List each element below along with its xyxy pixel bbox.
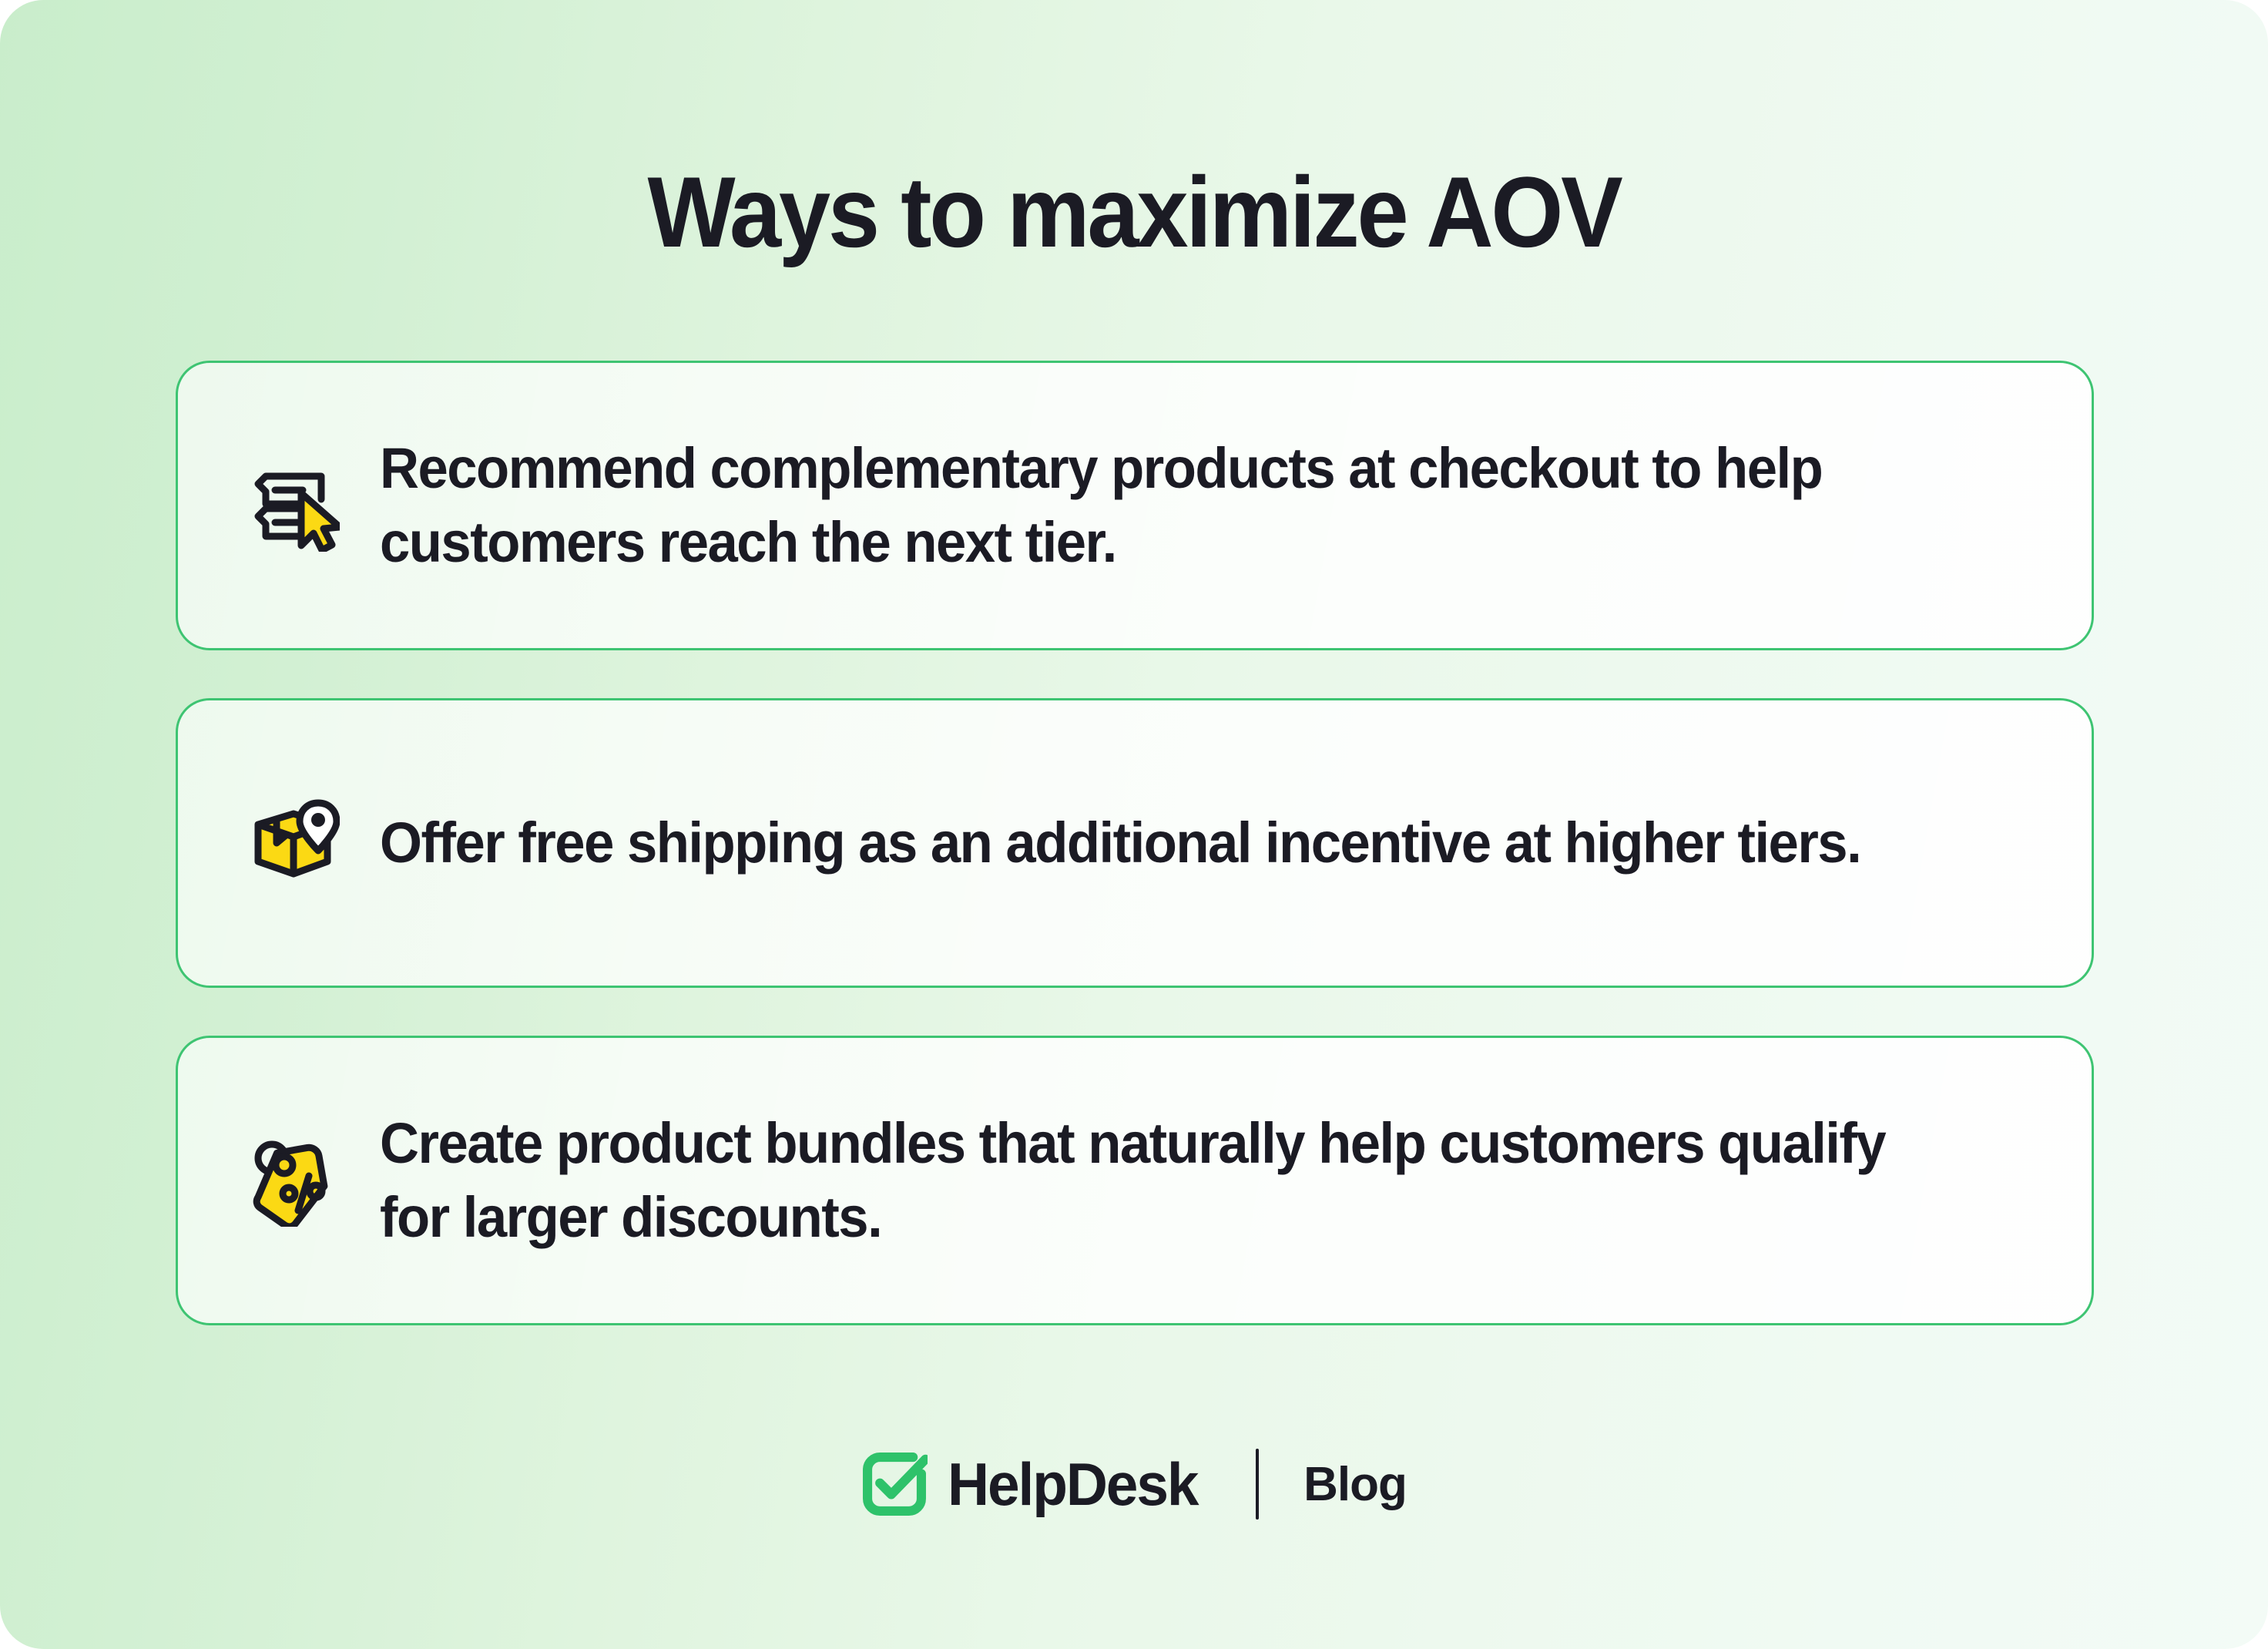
shipping-box-location-icon [247, 797, 340, 889]
poster-canvas: Ways to maximize AOV Recommend complemen… [0, 0, 2268, 1649]
discount-tag-icon [247, 1134, 340, 1227]
page-title-container: Ways to maximize AOV [0, 91, 2268, 334]
helpdesk-brand[interactable]: HelpDesk [861, 1449, 1208, 1520]
helpdesk-brand-name: HelpDesk [948, 1449, 1197, 1520]
list-cursor-icon [247, 459, 340, 552]
page-title: Ways to maximize AOV [648, 158, 1621, 266]
helpdesk-check-logo [861, 1451, 948, 1517]
tip-card-1[interactable]: Recommend complementary products at chec… [176, 361, 2094, 650]
tip-card-2-text: Offer free shipping as an additional inc… [380, 806, 1860, 880]
tip-card-1-text: Recommend complementary products at chec… [380, 432, 1910, 579]
tips-card-list: Recommend complementary products at chec… [176, 361, 2094, 1325]
tip-card-2[interactable]: Offer free shipping as an additional inc… [176, 698, 2094, 988]
tip-card-3-text: Create product bundles that naturally he… [380, 1107, 1910, 1254]
footer: HelpDesk Blog [0, 1449, 2268, 1520]
footer-blog-label[interactable]: Blog [1303, 1457, 1407, 1512]
footer-divider [1256, 1449, 1259, 1520]
tip-card-3[interactable]: Create product bundles that naturally he… [176, 1036, 2094, 1325]
